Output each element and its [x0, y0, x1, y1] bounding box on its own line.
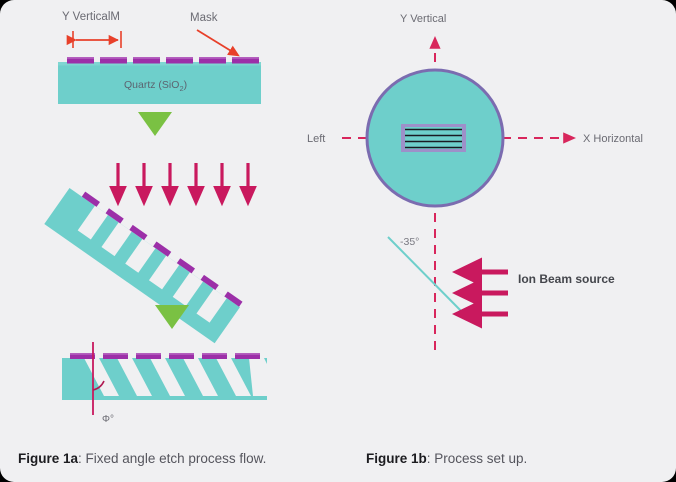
mask-stripe-top — [133, 57, 160, 59]
mask-stripe-top — [70, 353, 95, 355]
x-axis-label: X Horizontal — [583, 133, 643, 145]
tilted-substrate-group — [44, 183, 243, 343]
stage-1-masked-substrate: Y VerticalM Mask — [58, 11, 261, 104]
caption-1a-bold: Figure 1a — [18, 451, 79, 466]
substrate-label-close: ) — [184, 79, 188, 91]
caption-1b-bold: Figure 1b — [366, 451, 427, 466]
process-flow-arrow-1 — [138, 112, 172, 136]
tilt-angle-label: -35° — [400, 236, 419, 248]
caption-figure-1a: Figure 1a: Fixed angle etch process flow… — [18, 451, 266, 466]
mask-stripe-top — [136, 353, 161, 355]
mask-pointer-arrow — [197, 30, 236, 54]
figure-1b-setup: Y Vertical X Horizontal Left -35° — [307, 13, 643, 350]
mask-stripe-top — [103, 353, 128, 355]
phi-angle-label: Φ° — [102, 414, 114, 425]
substrate-label-main: Quartz (SiO — [124, 79, 179, 91]
figure-canvas: Y VerticalM Mask — [0, 0, 676, 482]
stage-2-tilted-etch — [44, 163, 248, 343]
mask-stripe-top — [166, 57, 193, 59]
pitch-label: Y VerticalM — [62, 11, 120, 23]
mask-stripe-top — [235, 353, 260, 355]
ion-beam-source-label: Ion Beam source — [518, 272, 615, 286]
mask-stripe-top — [100, 57, 127, 59]
mask-stripe-top — [199, 57, 226, 59]
left-direction-label: Left — [307, 133, 325, 145]
caption-1b-text: : Process set up. — [427, 451, 528, 466]
mask-stripe-top — [232, 57, 259, 59]
tilt-indicator-line — [388, 237, 470, 320]
figure-card: Y VerticalM Mask — [0, 0, 676, 482]
sample-holder — [401, 124, 466, 152]
y-axis-label: Y Vertical — [400, 13, 446, 25]
caption-figure-1b: Figure 1b: Process set up. — [366, 451, 527, 466]
mask-label: Mask — [190, 12, 218, 24]
ion-beam-arrow-group — [118, 163, 248, 196]
caption-1a-text: : Fixed angle etch process flow. — [78, 451, 266, 466]
mask-stripe-top — [169, 353, 194, 355]
ion-beam-source-arrow-group — [466, 272, 508, 314]
mask-stripe-top — [67, 57, 94, 59]
mask-stripe-top — [202, 353, 227, 355]
substrate-label: Quartz (SiO2) — [124, 79, 187, 93]
stage-3-angled-trenches: Φ° — [62, 342, 267, 425]
